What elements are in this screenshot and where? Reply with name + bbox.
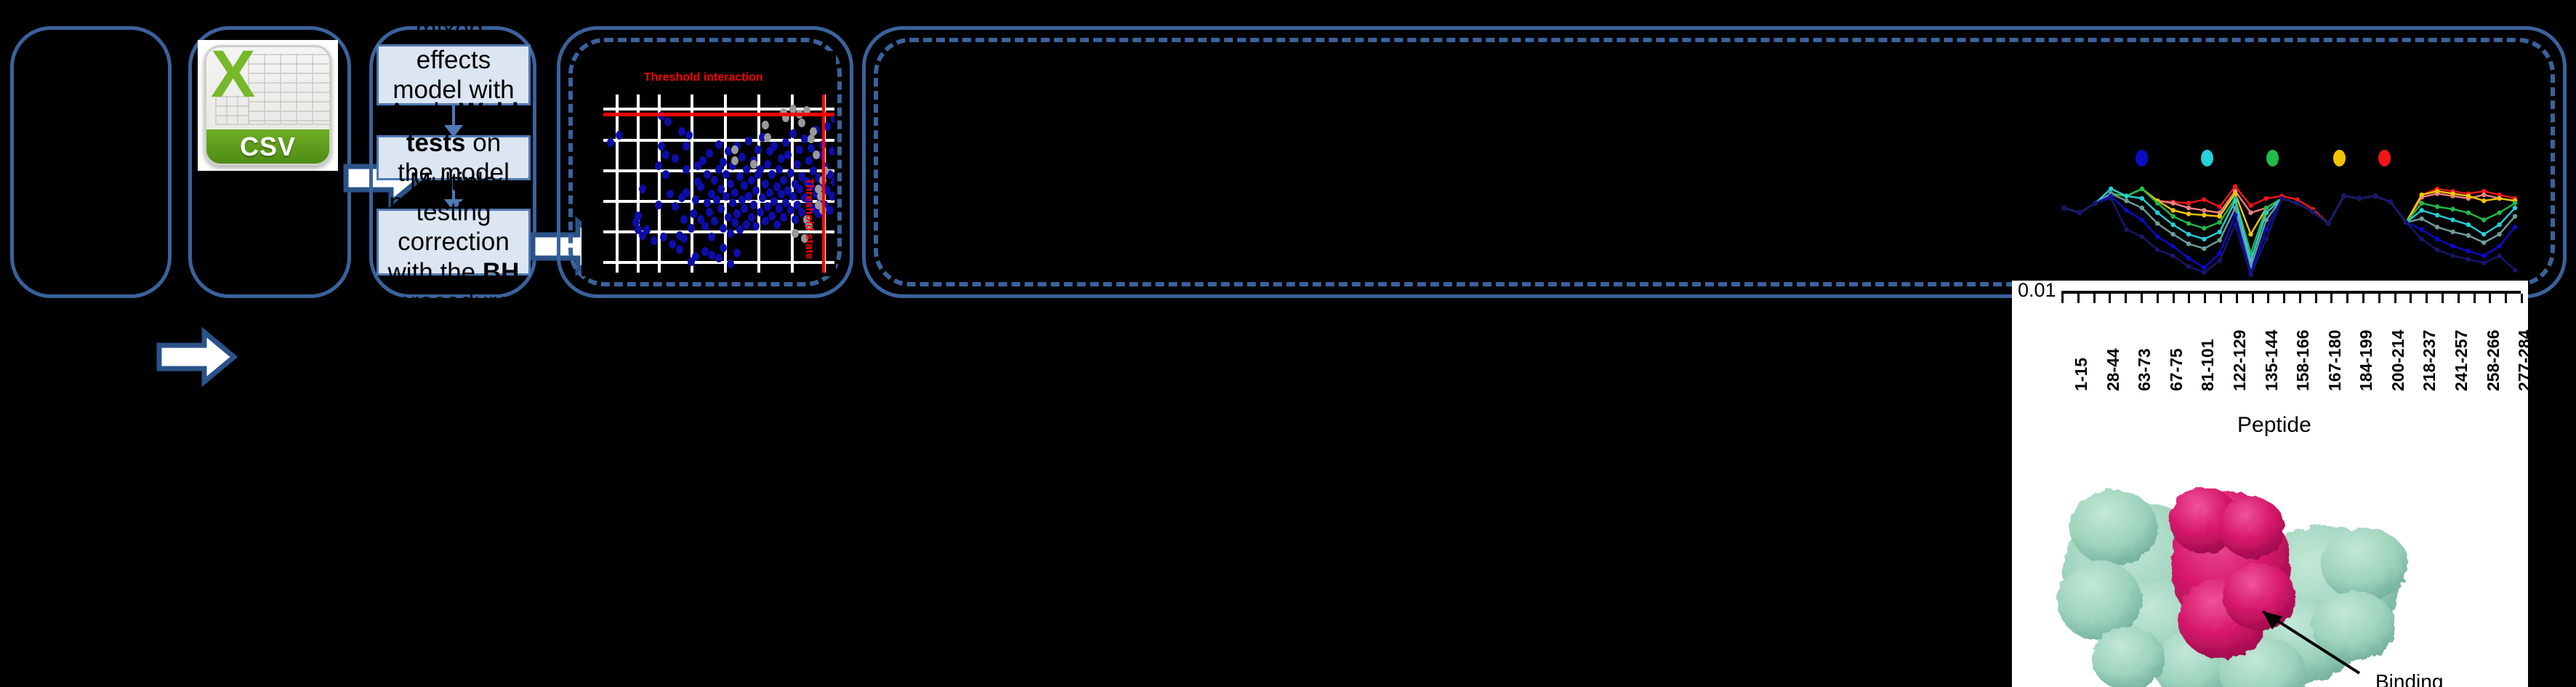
scatter-point-significant — [708, 233, 715, 241]
marker-series-salmon — [2202, 208, 2206, 212]
arrow-input-to-csv — [156, 326, 238, 388]
scatter-point-significant — [711, 176, 718, 185]
scatter-point-significant — [736, 172, 744, 181]
axis-tick — [2299, 294, 2301, 303]
axis-tick — [2394, 294, 2396, 303]
marker-series-teal-gray — [2435, 225, 2439, 229]
binding-interface-line1: Binding — [2375, 671, 2453, 687]
marker-series-blue — [2155, 234, 2160, 238]
scatter-point-nonsignificant — [813, 150, 820, 159]
peptide-tick-label: 241-257 — [2452, 330, 2471, 391]
scatter-point-significant — [794, 160, 801, 169]
marker-series-blue — [2450, 244, 2455, 248]
input-panel — [10, 26, 172, 298]
marker-series-blue — [2466, 249, 2471, 253]
marker-series-yellow — [2435, 189, 2439, 193]
scatter-point-significant — [662, 170, 669, 179]
marker-series-red — [2264, 196, 2269, 201]
peptide-tick-label: 167-180 — [2325, 330, 2345, 391]
threshold-state-line — [822, 95, 825, 273]
marker-series-cyan — [2264, 210, 2269, 214]
marker-series-navy — [2513, 268, 2517, 272]
marker-series-navy — [2404, 220, 2408, 225]
binding-interface-label: Binding interface — [2375, 671, 2453, 687]
scatter-point-significant — [829, 147, 834, 156]
peptide-tick-label: 67-75 — [2167, 348, 2186, 391]
scatter-point-significant — [738, 153, 746, 161]
marker-series-red — [2186, 201, 2191, 205]
scatter-point-significant — [748, 176, 755, 185]
scatter-point-significant — [776, 204, 783, 213]
scatter-point-significant — [754, 145, 762, 154]
scatter-point-significant — [766, 188, 773, 197]
marker-series-green — [2170, 214, 2175, 218]
axis-tick — [2442, 294, 2444, 303]
scatter-point-significant — [685, 131, 693, 140]
marker-series-navy — [2155, 247, 2160, 252]
scatter-point-significant — [796, 185, 803, 193]
box-text-line: correction — [386, 227, 521, 257]
axis-tick — [2125, 294, 2127, 303]
marker-series-navy — [2435, 247, 2439, 252]
marker-series-blue — [2186, 256, 2191, 260]
csv-format-label: CSV — [206, 129, 329, 164]
scatter-point-significant — [690, 209, 697, 218]
scatter-point-significant — [725, 147, 732, 156]
marker-series-green — [2497, 210, 2501, 214]
y-tick-label: 0.01 — [2018, 281, 2056, 302]
workflow-diagram: X CSV Fit a linear mixed-effects model w… — [0, 0, 2576, 687]
marker-series-teal-gray — [2264, 217, 2269, 222]
marker-series-yellow — [2218, 214, 2222, 218]
marker-series-yellow — [2170, 208, 2175, 212]
scatter-point-significant — [669, 240, 676, 249]
peptide-tick-label: 81-101 — [2198, 339, 2218, 391]
scatter-point-significant — [745, 192, 752, 201]
marker-series-green — [2513, 201, 2517, 205]
threshold-state-label: Threshold state — [803, 178, 816, 260]
marker-series-green — [2140, 187, 2144, 191]
marker-series-yellow — [2186, 212, 2191, 216]
marker-series-green — [2186, 221, 2191, 225]
csv-file-icon: X CSV — [198, 40, 338, 171]
axis-tick — [2378, 294, 2380, 303]
marker-series-cyan — [2186, 232, 2191, 236]
marker-series-teal-gray — [2140, 206, 2144, 210]
marker-series-navy — [2497, 254, 2501, 258]
marker-series-green — [2466, 210, 2471, 214]
scatter-point-significant — [787, 206, 794, 214]
marker-series-green — [2450, 206, 2455, 211]
marker-series-navy — [2264, 237, 2269, 241]
marker-series-teal-gray — [2466, 233, 2471, 238]
scatter-point-significant — [727, 229, 734, 238]
peptide-tick-label: 122-129 — [2230, 330, 2250, 391]
marker-series-cyan — [2140, 196, 2144, 201]
scatter-point-significant — [683, 142, 690, 150]
axis-tick — [2109, 294, 2111, 303]
scatter-point-significant — [715, 140, 723, 149]
scatter-plot-area — [603, 95, 834, 273]
marker-series-salmon — [2482, 193, 2486, 197]
scatter-point-significant — [701, 247, 709, 256]
marker-series-green — [2435, 204, 2439, 209]
marker-series-navy — [2372, 193, 2377, 198]
scatter-point-significant — [680, 215, 688, 224]
peptide-tick-label: 184-199 — [2356, 330, 2376, 391]
marker-series-teal-gray — [2170, 232, 2175, 236]
scatter-point-significant — [660, 233, 667, 241]
scatter-point-significant — [706, 149, 713, 158]
marker-series-salmon — [2248, 210, 2253, 214]
scatter-point-significant — [727, 180, 734, 188]
scatter-point-significant — [708, 251, 715, 260]
axis-tick — [2252, 294, 2254, 303]
scatter-point-significant — [692, 196, 699, 204]
scatter-point-significant — [792, 215, 799, 224]
marker-series-blue — [2435, 237, 2439, 241]
line-series-cyan — [2064, 189, 2515, 261]
axis-tick — [2188, 294, 2190, 303]
marker-series-yellow — [2420, 193, 2424, 197]
scatter-point-significant — [780, 176, 787, 185]
marker-series-navy — [2450, 254, 2455, 258]
marker-series-teal-gray — [2218, 238, 2222, 242]
axis-tick — [2061, 294, 2064, 303]
marker-series-blue — [2513, 225, 2517, 229]
scatter-point-significant — [780, 213, 787, 222]
marker-series-teal-gray — [2482, 241, 2486, 245]
scatter-point-significant — [635, 212, 642, 220]
peptide-axis-line — [2061, 291, 2521, 294]
scatter-point-significant — [750, 201, 757, 209]
axis-tick — [2236, 294, 2238, 303]
scatter-point-significant — [699, 156, 707, 165]
marker-series-cyan — [2202, 237, 2206, 241]
scatter-point-significant — [680, 234, 688, 243]
marker-series-navy — [2388, 200, 2393, 204]
marker-series-yellow — [2202, 213, 2206, 217]
scatter-point-significant — [683, 165, 690, 174]
box-text-line: Apply Wald tests on — [386, 97, 521, 158]
marker-series-navy — [2311, 209, 2315, 214]
scatter-point-nonsignificant — [810, 127, 817, 136]
scatter-point-significant — [778, 190, 785, 198]
scatter-point-significant — [725, 213, 732, 222]
marker-series-navy — [2466, 257, 2471, 262]
marker-series-teal-gray — [2497, 232, 2501, 236]
marker-series-navy — [2233, 222, 2237, 227]
scatter-point-significant — [757, 165, 764, 174]
marker-series-cyan — [2170, 222, 2175, 227]
axis-tick — [2410, 294, 2412, 303]
scatter-point-significant — [762, 180, 769, 188]
axis-tick — [2426, 294, 2428, 303]
marker-series-cyan — [2233, 198, 2237, 203]
threshold-scatter-plot: Threshold interaction Threshold state — [581, 51, 836, 276]
scatter-point-significant — [738, 196, 746, 204]
axis-tick — [2157, 294, 2159, 303]
scatter-point-significant — [733, 209, 741, 218]
axis-tick — [2283, 294, 2285, 303]
scatter-point-significant — [829, 192, 834, 201]
scatter-point-significant — [733, 249, 741, 257]
axis-tick — [2267, 294, 2269, 303]
marker-series-cyan — [2466, 222, 2471, 227]
axis-tick — [2521, 294, 2523, 303]
marker-series-cyan — [2435, 213, 2439, 217]
scatter-point-significant — [678, 127, 685, 136]
excel-x-letter: X — [211, 45, 255, 108]
scatter-point-significant — [706, 208, 713, 217]
scatter-point-nonsignificant — [750, 160, 757, 169]
marker-series-navy — [2482, 260, 2486, 265]
scatter-point-significant — [773, 220, 781, 229]
scatter-point-significant — [778, 154, 785, 163]
scatter-point-significant — [796, 145, 803, 154]
marker-series-navy — [2124, 227, 2128, 231]
marker-series-green — [2482, 217, 2486, 222]
marker-series-teal-gray — [2420, 217, 2424, 221]
marker-series-navy — [2140, 234, 2144, 238]
scatter-point-significant — [727, 260, 734, 268]
scatter-point-significant — [826, 206, 834, 214]
marker-series-cyan — [2513, 206, 2517, 210]
axis-tick — [2315, 294, 2317, 303]
multiple-testing-box: Multiple testingcorrectionwith the BH pr… — [377, 209, 531, 276]
scatter-point-significant — [736, 225, 744, 234]
scatter-point-nonsignificant — [762, 121, 769, 129]
marker-series-green — [2420, 201, 2424, 205]
scatter-point-significant — [745, 137, 752, 145]
scatter-point-significant — [782, 138, 789, 147]
marker-series-navy — [2062, 206, 2066, 210]
peptide-tick-label: 28-44 — [2104, 348, 2123, 391]
marker-series-navy — [2420, 237, 2424, 241]
marker-series-navy — [2357, 196, 2362, 201]
peptide-tick-label: 258-266 — [2484, 330, 2503, 391]
scatter-point-significant — [704, 170, 711, 179]
marker-series-navy — [2218, 258, 2222, 262]
marker-series-navy — [2326, 221, 2330, 225]
marker-series-green — [2202, 226, 2206, 230]
scatter-point-nonsignificant — [792, 229, 799, 238]
axis-tick — [2141, 294, 2143, 303]
scatter-point-significant — [711, 217, 718, 225]
marker-series-cyan — [2482, 232, 2486, 236]
scatter-point-significant — [664, 117, 672, 126]
axis-tick — [2077, 294, 2080, 303]
scatter-point-significant — [655, 201, 662, 209]
marker-series-navy — [2109, 196, 2113, 201]
marker-series-green — [2218, 220, 2222, 225]
scatter-point-significant — [713, 196, 720, 204]
scatter-point-nonsignificant — [798, 118, 805, 127]
marker-series-yellow — [2233, 191, 2237, 196]
marker-series-blue — [2233, 213, 2237, 217]
scatter-point-significant — [741, 204, 748, 213]
scatter-point-significant — [801, 134, 808, 143]
peptide-tick-label: 1-15 — [2072, 358, 2091, 391]
marker-series-cyan — [2450, 217, 2455, 222]
peptide-tick-label: 63-73 — [2135, 348, 2154, 391]
marker-series-blue — [2482, 254, 2486, 258]
marker-series-blue — [2264, 227, 2269, 231]
marker-series-red — [2218, 204, 2222, 209]
peptide-tick-label: 200-214 — [2388, 330, 2408, 391]
protein-surface-image — [2012, 455, 2528, 687]
scatter-point-significant — [667, 190, 674, 198]
box-text-line: with the BH procedure — [386, 257, 521, 318]
scatter-point-significant — [787, 169, 794, 177]
marker-series-cyan — [2155, 210, 2160, 214]
marker-series-navy — [2202, 270, 2206, 275]
axis-tick — [2204, 294, 2206, 303]
scatter-point-significant — [762, 217, 769, 225]
scatter-point-significant — [639, 185, 646, 193]
marker-series-teal-gray — [2202, 246, 2206, 251]
scatter-point-significant — [607, 138, 614, 147]
scatter-point-significant — [831, 115, 834, 124]
marker-series-yellow — [2497, 196, 2501, 201]
scatter-point-nonsignificant — [764, 133, 771, 142]
axis-tick — [2220, 294, 2222, 303]
scatter-point-significant — [731, 188, 738, 197]
scatter-point-significant — [743, 220, 750, 229]
marker-series-salmon — [2186, 206, 2191, 210]
fit-model-box: Fit a linear mixed-effects model withREM… — [377, 44, 531, 105]
marker-series-teal-gray — [2186, 241, 2191, 246]
scatter-point-nonsignificant — [731, 145, 738, 154]
axis-tick — [2093, 294, 2096, 303]
axis-tick — [2173, 294, 2175, 303]
scatter-point-significant — [757, 208, 764, 217]
scatter-point-significant — [741, 181, 748, 190]
scatter-point-significant — [764, 160, 771, 169]
marker-series-blue — [2140, 217, 2144, 222]
marker-series-yellow — [2466, 193, 2471, 198]
scatter-point-significant — [729, 198, 736, 207]
scatter-point-significant — [672, 202, 679, 211]
scatter-point-significant — [748, 213, 755, 222]
axis-tick — [2474, 294, 2476, 303]
marker-series-cyan — [2420, 208, 2424, 212]
scatter-point-significant — [789, 192, 797, 201]
box-text-line: Multiple testing — [386, 167, 521, 228]
marker-series-cyan — [2124, 193, 2128, 198]
marker-series-blue — [2170, 244, 2175, 248]
scatter-point-significant — [723, 192, 730, 201]
scatter-point-significant — [805, 156, 813, 165]
marker-series-navy — [2170, 254, 2175, 258]
marker-series-navy — [2077, 210, 2082, 214]
threshold-interaction-line — [603, 113, 834, 116]
marker-series-blue — [2497, 244, 2501, 248]
scatter-point-significant — [831, 177, 834, 186]
box-text-line: Fit a linear mixed- — [386, 0, 521, 45]
scatter-point-significant — [676, 245, 683, 254]
scatter-point-nonsignificant — [731, 156, 738, 165]
marker-series-navy — [2248, 273, 2253, 277]
scatter-point-significant — [701, 222, 709, 230]
peptide-series-lines — [2006, 131, 2573, 287]
marker-series-teal-gray — [2155, 221, 2160, 225]
marker-series-red — [2248, 204, 2253, 208]
marker-series-teal-gray — [2450, 230, 2455, 234]
scatter-point-significant — [776, 165, 783, 174]
scatter-point-significant — [743, 165, 750, 174]
scatter-point-nonsignificant — [808, 134, 815, 143]
marker-series-red — [2233, 184, 2237, 188]
axis-tick — [2458, 294, 2460, 303]
scatter-point-significant — [768, 212, 776, 220]
marker-series-yellow — [2482, 198, 2486, 203]
marker-series-blue — [2202, 265, 2206, 270]
marker-series-navy — [2186, 264, 2191, 268]
scatter-point-nonsignificant — [789, 105, 797, 113]
axis-tick — [2346, 294, 2348, 303]
scatter-point-significant — [683, 188, 690, 197]
peptide-response-line-chart — [2006, 131, 2573, 287]
x-axis-title: Peptide — [2237, 413, 2311, 438]
scatter-point-significant — [688, 224, 695, 233]
box-text-line: effects model with — [386, 45, 521, 105]
peptide-tick-label: 135-144 — [2262, 330, 2282, 391]
peptide-tick-label: 277-284 — [2515, 330, 2528, 391]
scatter-point-significant — [723, 170, 730, 179]
line-series-teal-gray — [2064, 193, 2515, 266]
axis-tick — [2362, 294, 2364, 303]
scatter-point-significant — [697, 182, 704, 191]
scatter-point-significant — [692, 252, 699, 261]
marker-series-teal-gray — [2233, 206, 2237, 210]
scatter-point-significant — [770, 142, 778, 150]
marker-series-red — [2202, 197, 2206, 201]
scatter-point-significant — [704, 198, 711, 207]
scatter-point-significant — [662, 150, 669, 159]
marker-series-yellow — [2248, 232, 2253, 236]
marker-series-navy — [2342, 193, 2346, 198]
scatter-point-significant — [789, 129, 797, 138]
scatter-point-significant — [651, 236, 658, 245]
scatter-point-significant — [768, 170, 776, 179]
marker-series-yellow — [2450, 191, 2455, 196]
marker-series-blue — [2124, 208, 2128, 212]
marker-series-navy — [2093, 201, 2098, 205]
scatter-point-significant — [658, 142, 665, 150]
axis-tick — [2505, 294, 2507, 303]
scatter-point-significant — [672, 154, 679, 163]
marker-series-blue — [2420, 227, 2424, 231]
marker-series-salmon — [2170, 201, 2175, 205]
marker-series-green — [2155, 201, 2160, 205]
marker-series-cyan — [2109, 187, 2113, 191]
structure-card: 1-1528-4463-7367-7581-101122-129135-1441… — [2012, 281, 2528, 687]
marker-series-teal-gray — [2124, 198, 2128, 203]
marker-series-cyan — [2218, 230, 2222, 234]
marker-series-green — [2264, 206, 2269, 210]
scatter-title: Threshold interaction — [644, 71, 763, 84]
peptide-tick-label: 218-237 — [2420, 330, 2439, 391]
scatter-point-significant — [717, 204, 725, 213]
marker-series-navy — [2295, 201, 2299, 205]
marker-series-navy — [2279, 196, 2284, 201]
scatter-point-significant — [764, 202, 771, 211]
marker-series-teal-gray — [2513, 214, 2517, 218]
axis-tick — [2330, 294, 2333, 303]
axis-tick — [2489, 294, 2491, 303]
marker-series-cyan — [2497, 222, 2501, 227]
